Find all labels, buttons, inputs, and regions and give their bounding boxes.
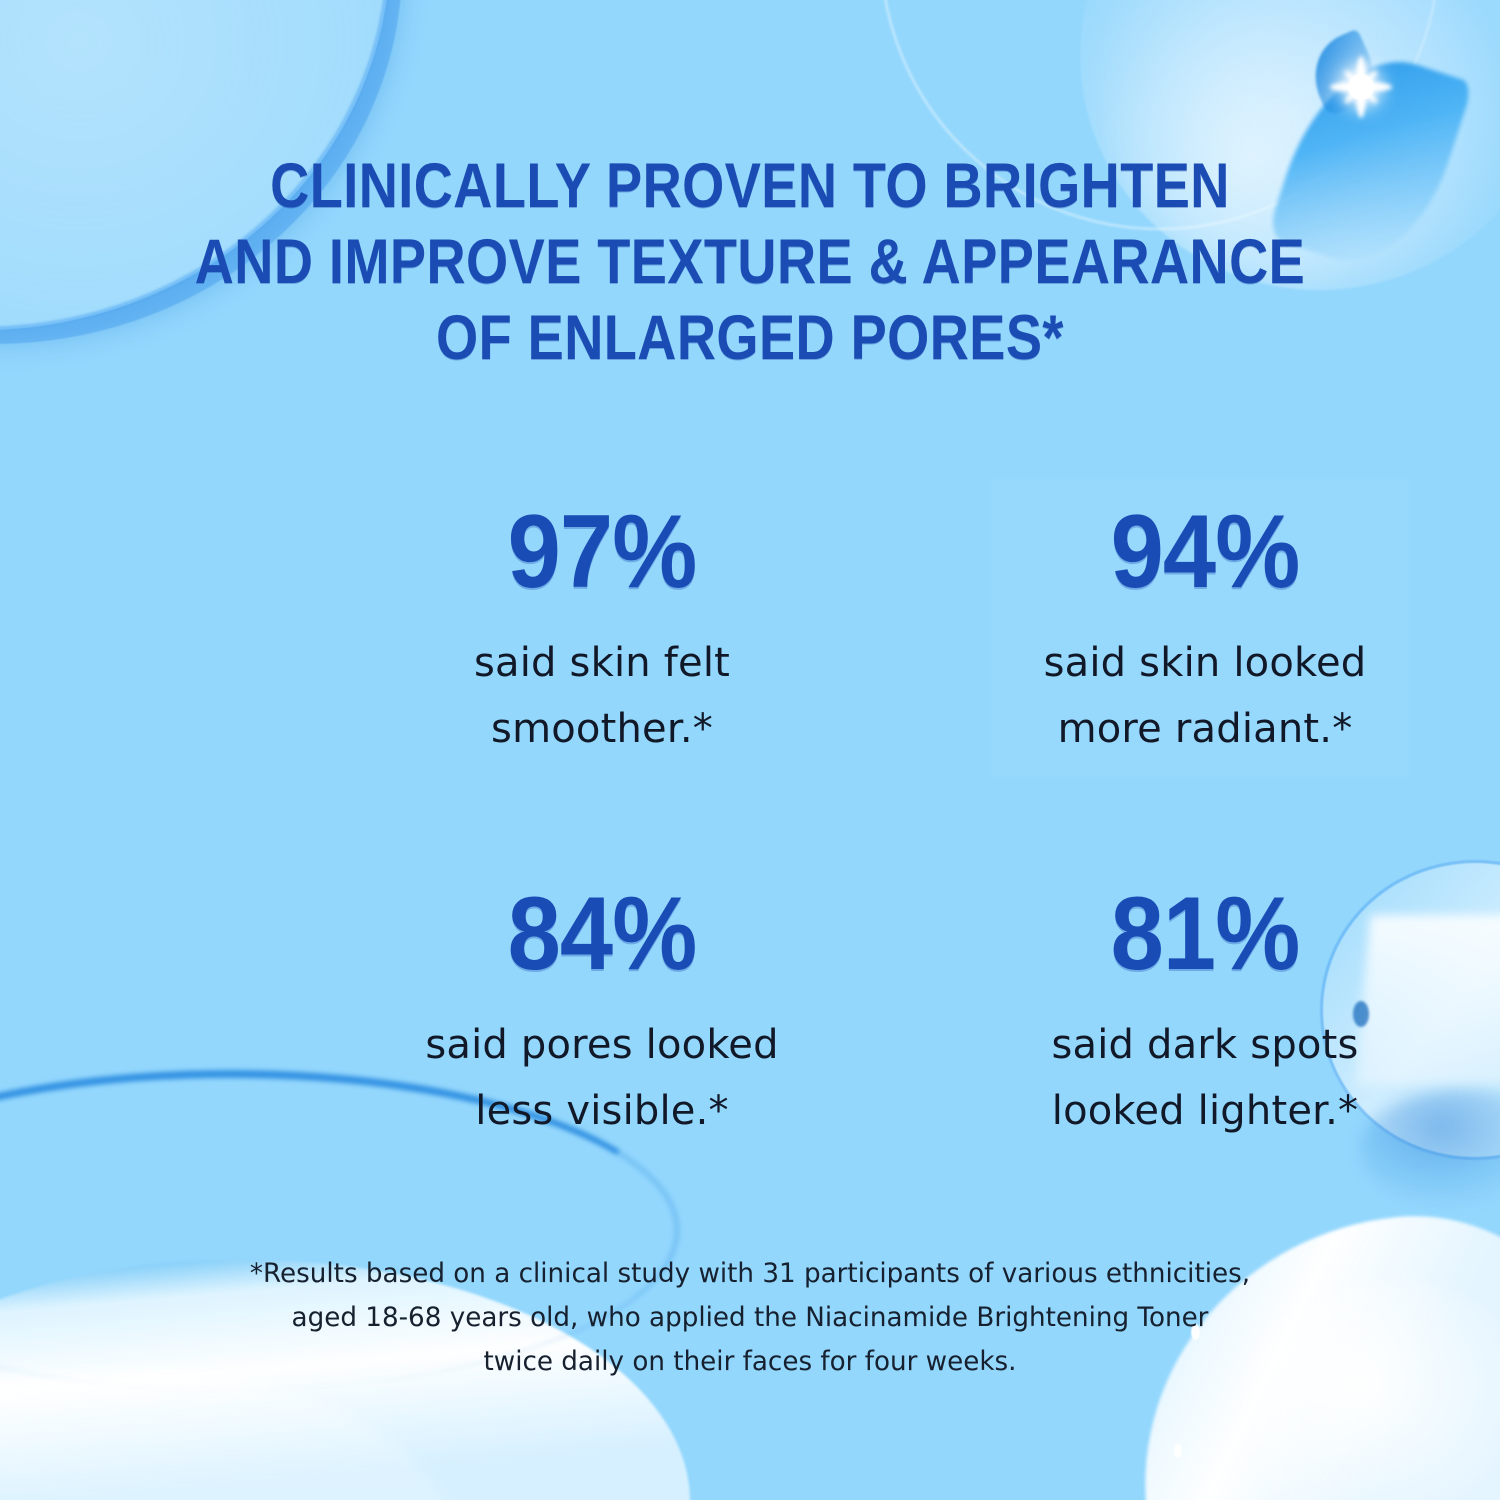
headline-line-1: CLINICALLY PROVEN TO BRIGHTEN	[105, 148, 1395, 224]
footnote-line-1: *Results based on a clinical study with …	[23, 1252, 1478, 1296]
page-title: CLINICALLY PROVEN TO BRIGHTEN AND IMPROV…	[105, 148, 1395, 376]
stat-block-radiant: 94% said skin looked more radiant.*	[905, 500, 1500, 762]
stat-value-97: 97%	[344, 500, 859, 604]
footnote-line-2: aged 18-68 years old, who applied the Ni…	[23, 1296, 1478, 1340]
footnote-disclaimer: *Results based on a clinical study with …	[23, 1252, 1478, 1384]
stat-label-smoother-line-1: said skin felt	[322, 630, 882, 696]
stat-value-94: 94%	[947, 500, 1462, 604]
stat-label-radiant-line-2: more radiant.*	[925, 696, 1485, 762]
footnote-line-3: twice daily on their faces for four week…	[23, 1340, 1478, 1384]
stat-label-radiant: said skin looked more radiant.*	[925, 630, 1485, 762]
stat-block-pores: 84% said pores looked less visible.*	[302, 882, 902, 1144]
stat-label-dark-spots-line-1: said dark spots	[925, 1012, 1485, 1078]
stat-block-smoother: 97% said skin felt smoother.*	[302, 500, 902, 762]
stat-label-pores-line-1: said pores looked	[322, 1012, 882, 1078]
stat-label-pores: said pores looked less visible.*	[322, 1012, 882, 1144]
headline-line-2: AND IMPROVE TEXTURE & APPEARANCE	[105, 224, 1395, 300]
claims-infographic: CLINICALLY PROVEN TO BRIGHTEN AND IMPROV…	[0, 0, 1500, 1500]
stat-value-81: 81%	[947, 882, 1462, 986]
stat-label-radiant-line-1: said skin looked	[925, 630, 1485, 696]
stat-label-pores-line-2: less visible.*	[322, 1078, 882, 1144]
stat-label-smoother-line-2: smoother.*	[322, 696, 882, 762]
stat-block-dark-spots: 81% said dark spots looked lighter.*	[905, 882, 1500, 1144]
stat-label-dark-spots: said dark spots looked lighter.*	[925, 1012, 1485, 1144]
stat-value-84: 84%	[344, 882, 859, 986]
stat-label-dark-spots-line-2: looked lighter.*	[925, 1078, 1485, 1144]
stat-label-smoother: said skin felt smoother.*	[322, 630, 882, 762]
stats-grid: 97% said skin felt smoother.* 94% said s…	[150, 500, 1350, 1144]
headline-line-3: OF ENLARGED PORES*	[105, 300, 1395, 376]
